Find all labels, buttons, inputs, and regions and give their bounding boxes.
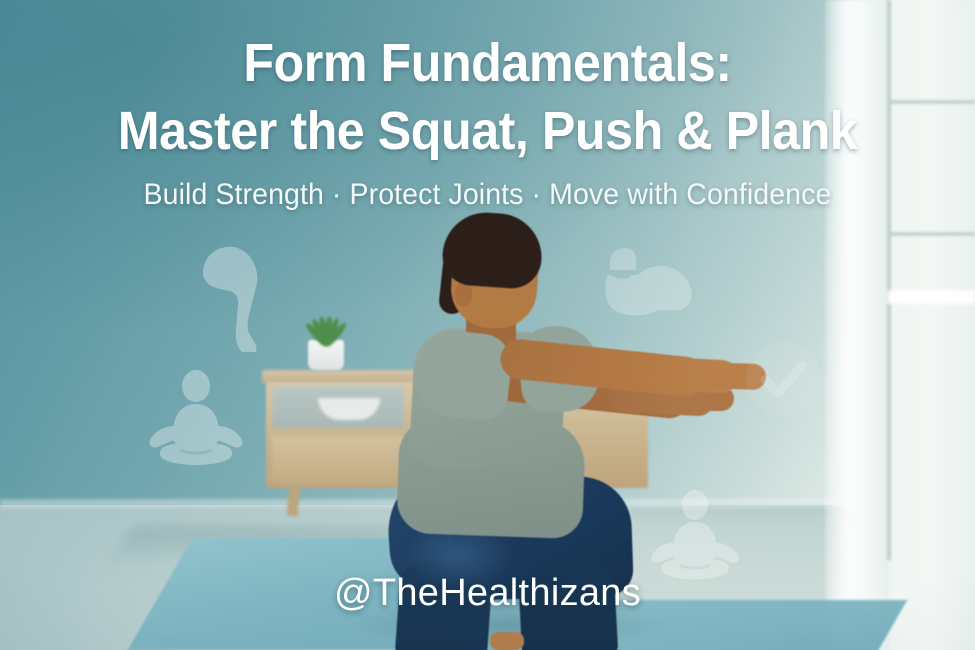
subtitle: Build Strength · Protect Joints · Move w… bbox=[24, 178, 950, 212]
headline-block: Form Fundamentals: Master the Squat, Pus… bbox=[0, 0, 975, 212]
title-line-1: Form Fundamentals: bbox=[34, 36, 941, 90]
check-circle-icon bbox=[742, 338, 824, 420]
sleeve-near bbox=[414, 327, 514, 422]
ankle bbox=[490, 632, 524, 650]
social-handle: @TheHealthizans bbox=[0, 572, 975, 615]
hair bbox=[441, 210, 545, 291]
ear bbox=[455, 282, 472, 306]
lotus-pose-icon bbox=[144, 368, 248, 472]
bicep-flex-icon bbox=[602, 240, 696, 320]
leg-squat-icon bbox=[196, 243, 270, 355]
fitness-promo-poster: Form Fundamentals: Master the Squat, Pus… bbox=[0, 0, 975, 650]
title-line-2: Master the Squat, Push & Plank bbox=[34, 104, 941, 158]
